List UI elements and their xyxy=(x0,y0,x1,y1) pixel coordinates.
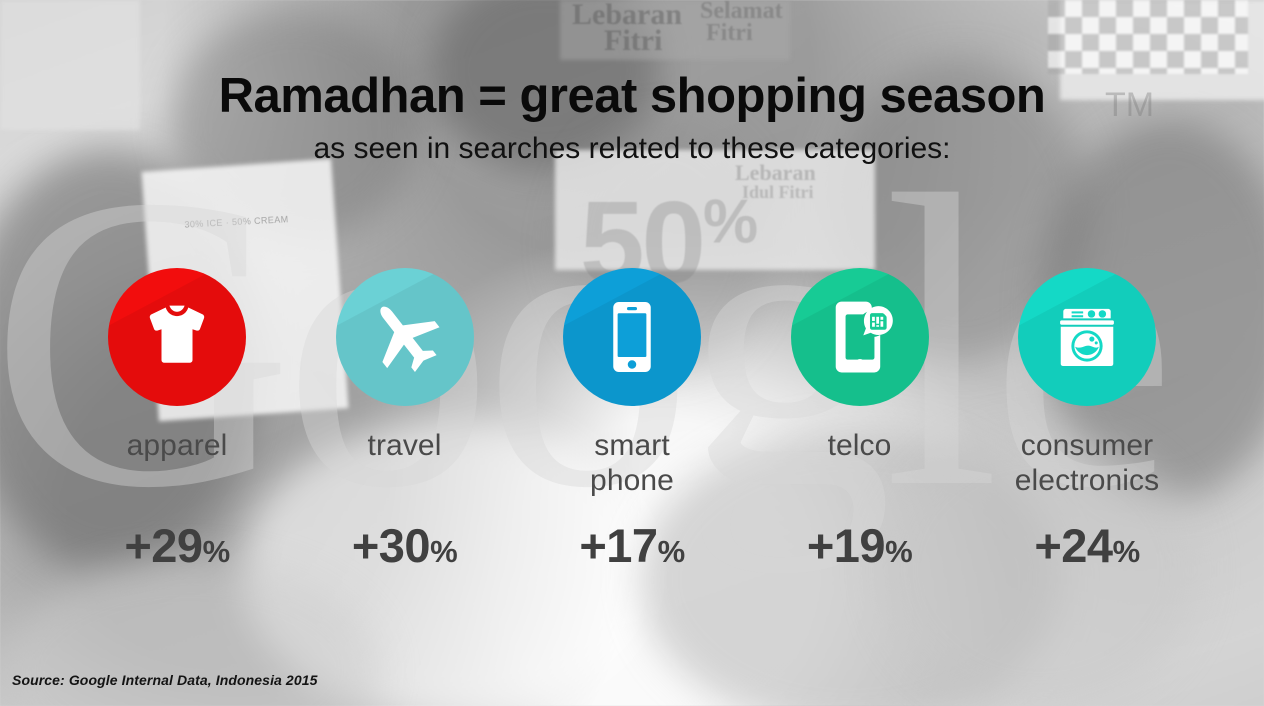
category-value-travel: +30% xyxy=(352,518,457,573)
value-number: +30 xyxy=(352,519,430,572)
page-subtitle: as seen in searches related to these cat… xyxy=(0,132,1264,166)
category-label-smart-phone: smart phone xyxy=(590,428,674,498)
smartphone-icon xyxy=(592,297,672,377)
value-unit: % xyxy=(430,534,457,569)
value-number: +29 xyxy=(124,519,202,572)
value-unit: % xyxy=(203,534,230,569)
category-label-consumer-electronics: consumer electronics xyxy=(1015,428,1160,498)
sim-card-phone-icon xyxy=(818,295,902,379)
tshirt-icon xyxy=(135,295,219,379)
travel-icon-circle xyxy=(336,268,474,406)
washing-machine-icon xyxy=(1046,296,1128,378)
telco-icon-circle xyxy=(791,268,929,406)
category-value-consumer-electronics: +24% xyxy=(1034,518,1139,573)
consumer-electronics-icon-circle xyxy=(1018,268,1156,406)
value-number: +19 xyxy=(807,519,885,572)
category-card-travel[interactable]: travel +30% xyxy=(300,268,510,573)
category-label-line-1: consumer xyxy=(1015,428,1160,463)
category-card-list: apparel +29% travel xyxy=(72,268,1192,573)
airplane-icon xyxy=(362,294,448,380)
category-label-travel: travel xyxy=(368,428,442,463)
category-card-smart-phone[interactable]: smart phone +17% xyxy=(527,268,737,573)
category-label-apparel: apparel xyxy=(127,428,228,463)
category-card-telco[interactable]: telco +19% xyxy=(755,268,965,573)
value-unit: % xyxy=(658,534,685,569)
category-card-apparel[interactable]: apparel +29% xyxy=(72,268,282,573)
category-label-line-2: electronics xyxy=(1015,463,1160,498)
slide-root: 50% Lebaran Fitri Selamat Fitri Lebaran … xyxy=(0,0,1264,706)
category-label-telco: telco xyxy=(828,428,892,463)
apparel-icon-circle xyxy=(108,268,246,406)
smart-phone-icon-circle xyxy=(563,268,701,406)
value-unit: % xyxy=(885,534,912,569)
value-unit: % xyxy=(1113,534,1140,569)
category-label-line-1: smart xyxy=(590,428,674,463)
source-note: Source: Google Internal Data, Indonesia … xyxy=(12,672,317,688)
category-value-apparel: +29% xyxy=(124,518,229,573)
category-card-consumer-electronics[interactable]: consumer electronics +24% xyxy=(982,268,1192,573)
category-value-telco: +19% xyxy=(807,518,912,573)
page-title: Ramadhan = great shopping season xyxy=(0,68,1264,124)
value-number: +24 xyxy=(1034,519,1112,572)
category-value-smart-phone: +17% xyxy=(579,518,684,573)
category-label-line-2: phone xyxy=(590,463,674,498)
value-number: +17 xyxy=(579,519,657,572)
